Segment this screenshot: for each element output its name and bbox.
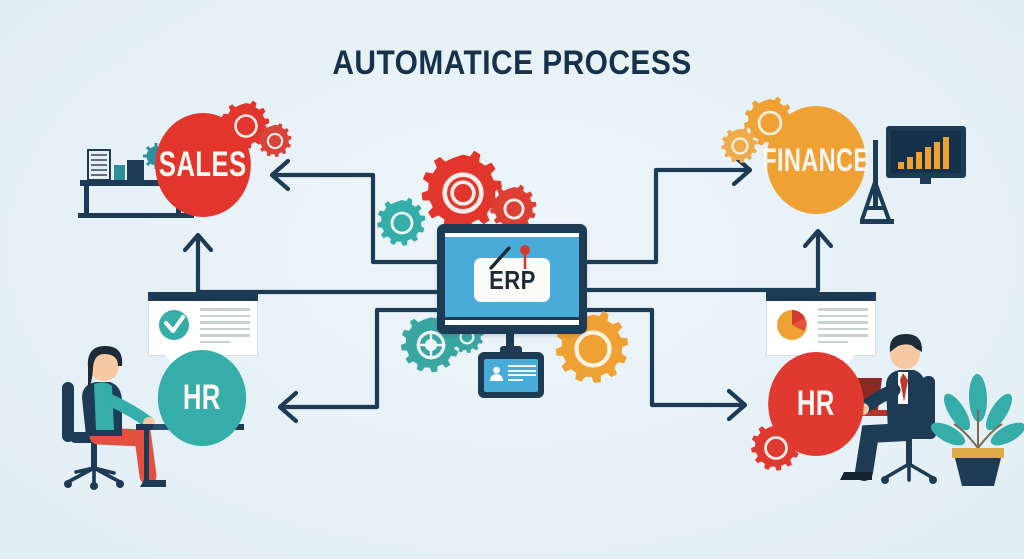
tripod-base: [860, 219, 894, 224]
id-badge-icon[interactable]: [478, 352, 544, 398]
person-legs: [864, 432, 906, 472]
plant-pot-rim: [952, 448, 1004, 458]
server-box-mid: [127, 160, 144, 180]
check-circle-icon: [158, 309, 190, 341]
chair-legs: [885, 464, 933, 480]
node-hr-left-label: HR: [183, 378, 221, 418]
erp-screen-bottom-strip: [445, 320, 579, 325]
gear-orange-finance-b-icon: [722, 128, 758, 164]
gear-red-hr-right-icon: [752, 424, 800, 472]
person-shoe: [140, 480, 166, 487]
callout-titlebar: [766, 292, 876, 301]
diagram-canvas: AUTOMATICE PROCESS: [0, 0, 1024, 559]
chair-post: [906, 439, 912, 465]
desk-base: [78, 213, 194, 218]
node-hr-right-label: HR: [797, 384, 835, 424]
badge-text-lines: [508, 365, 536, 383]
tripod-pole: [873, 140, 878, 210]
erp-screen-top-strip: [445, 233, 579, 237]
node-sales-label: SALES: [159, 145, 247, 185]
person-shoe: [840, 472, 872, 480]
plant-pot: [955, 458, 1001, 486]
chair-legs: [68, 468, 120, 484]
callout-titlebar: [148, 292, 258, 301]
finance-presentation-scene: [860, 120, 980, 225]
chart-monitor-neck: [920, 178, 931, 184]
hr-right-callout: [766, 292, 876, 356]
desk-leg-left: [84, 186, 89, 216]
desk-leg: [144, 430, 149, 480]
node-hr-left[interactable]: HR: [158, 350, 246, 446]
callout-text-lines: [200, 308, 250, 347]
erp-monitor[interactable]: ERP: [437, 224, 587, 334]
hr-left-callout: [148, 292, 258, 356]
gear-teal-left-icon: [378, 199, 426, 247]
callout-text-lines: [818, 308, 868, 347]
person-avatar-icon: [489, 366, 504, 381]
pin-and-pen-icon: [487, 244, 537, 270]
server-box-small: [114, 165, 125, 180]
connector-erp-to-finance: [587, 170, 749, 262]
pie-chart-icon: [776, 309, 808, 341]
gear-red-sales-b-icon: [258, 124, 292, 158]
potted-plant-icon: [927, 374, 1024, 486]
chair-post: [91, 443, 97, 469]
